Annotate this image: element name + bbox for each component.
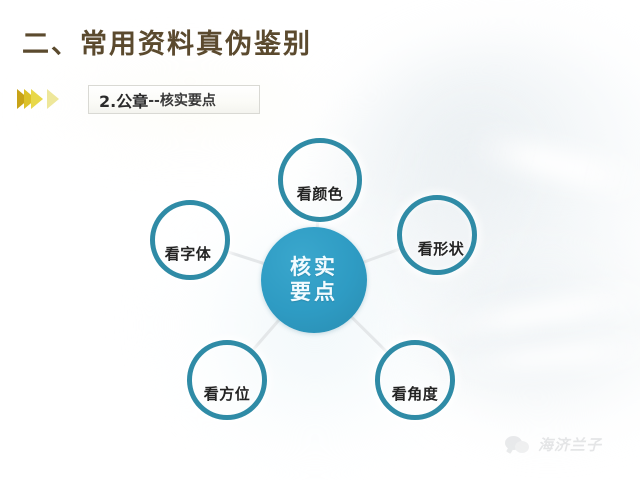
connector-line-angle (348, 313, 389, 354)
diagram-node-label: 看角度 (392, 383, 439, 404)
diagram-node-shape[interactable]: 看形状 (397, 195, 477, 275)
diagram-node-font[interactable]: 看字体 (150, 200, 230, 280)
wechat-icon (505, 435, 531, 455)
connector-line-orientation (251, 316, 283, 352)
diagram-node-label: 看字体 (165, 243, 212, 264)
diagram-center-label-line: 要点 (290, 280, 338, 305)
diagram-node-label: 看颜色 (297, 183, 344, 204)
diagram-center-node[interactable]: 核实要点 (261, 227, 367, 333)
radial-diagram: 看颜色看形状看角度看方位看字体核实要点 (0, 0, 640, 480)
diagram-node-label: 看形状 (418, 238, 465, 259)
watermark: 海济兰子 (505, 434, 602, 455)
diagram-node-label: 看方位 (204, 383, 251, 404)
diagram-center-label-line: 核实 (290, 255, 338, 280)
diagram-node-color[interactable]: 看颜色 (278, 138, 362, 222)
slide-canvas: 二、常用资料真伪鉴别 2.公章 --核实要点 看颜色看形状看角度看方位看字体核实… (0, 0, 640, 480)
connector-line-font (226, 250, 268, 266)
connector-line-shape (360, 247, 402, 265)
watermark-text: 海济兰子 (538, 434, 602, 455)
diagram-node-orientation[interactable]: 看方位 (187, 340, 267, 420)
diagram-node-angle[interactable]: 看角度 (375, 340, 455, 420)
